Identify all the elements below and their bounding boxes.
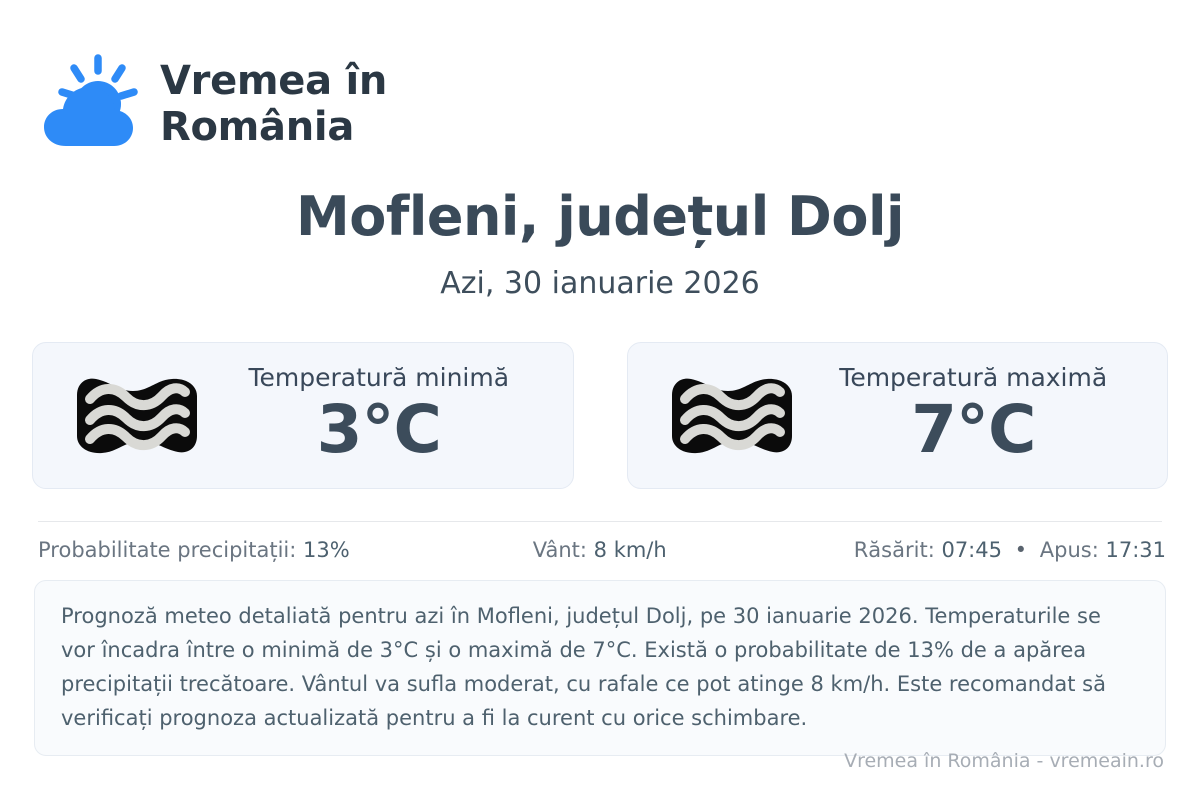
page-date: Azi, 30 ianuarie 2026 xyxy=(0,266,1200,301)
fog-mist-icon xyxy=(666,375,798,457)
precipitation-stat: Probabilitate precipitații: 13% xyxy=(38,538,412,562)
max-temperature-value: 7°C xyxy=(911,393,1035,467)
min-temperature-body: Temperatură minimă 3°C xyxy=(229,364,559,467)
max-temperature-body: Temperatură maximă 7°C xyxy=(824,364,1154,467)
max-temperature-card: Temperatură maximă 7°C xyxy=(627,342,1169,489)
sunset-label: Apus: xyxy=(1040,538,1099,562)
weather-page: Vremea în România Mofleni, județul Dolj … xyxy=(0,0,1200,800)
weather-stats-row: Probabilitate precipitații: 13% Vânt: 8 … xyxy=(38,538,1166,562)
max-temperature-label: Temperatură maximă xyxy=(839,364,1107,392)
brand-logo[interactable]: Vremea în România xyxy=(36,52,387,158)
wind-value: 8 km/h xyxy=(594,538,667,562)
brand-name: Vremea în România xyxy=(160,59,387,150)
sunset-value: 17:31 xyxy=(1105,538,1166,562)
sunrise-value: 07:45 xyxy=(941,538,1002,562)
page-title: Mofleni, județul Dolj xyxy=(0,185,1200,248)
wind-label: Vânt: xyxy=(533,538,587,562)
precipitation-label: Probabilitate precipitații: xyxy=(38,538,296,562)
sun-times-separator: • xyxy=(1009,538,1033,562)
min-temperature-card: Temperatură minimă 3°C xyxy=(32,342,574,489)
temperature-cards: Temperatură minimă 3°C Temperatură maxim… xyxy=(32,342,1168,489)
forecast-description: Prognoză meteo detaliată pentru azi în M… xyxy=(34,580,1166,756)
wind-stat: Vânt: 8 km/h xyxy=(412,538,786,562)
min-temperature-value: 3°C xyxy=(317,393,441,467)
footer-attribution: Vremea în România - vremeain.ro xyxy=(844,750,1164,772)
sun-times-stat: Răsărit: 07:45 • Apus: 17:31 xyxy=(787,538,1166,562)
section-divider xyxy=(38,521,1162,522)
min-temperature-label: Temperatură minimă xyxy=(248,364,509,392)
fog-mist-icon xyxy=(71,375,203,457)
precipitation-value: 13% xyxy=(303,538,350,562)
sun-behind-cloud-icon xyxy=(36,52,142,158)
sunrise-label: Răsărit: xyxy=(854,538,935,562)
